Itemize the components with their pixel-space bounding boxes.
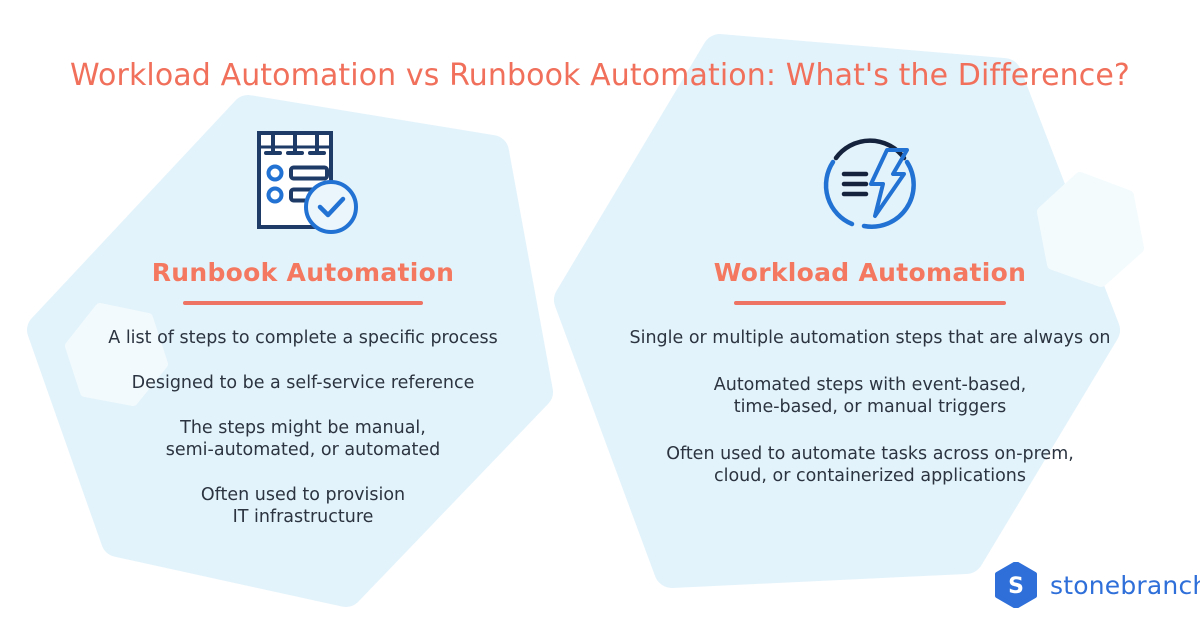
- infographic-canvas: Workload Automation vs Runbook Automatio…: [0, 0, 1200, 628]
- logo-wordmark: stonebranch: [1050, 571, 1200, 600]
- stonebranch-hexagon-s-icon: S: [994, 562, 1038, 608]
- stonebranch-logo: S stonebranch: [994, 562, 1200, 608]
- heading-underline: [734, 301, 1006, 305]
- svg-text:S: S: [1008, 574, 1024, 599]
- list-item: The steps might be manual, semi-automate…: [48, 417, 558, 461]
- heading-underline: [183, 301, 423, 305]
- lightning-bolt-circle-icon: [570, 120, 1170, 240]
- bullet-list: Single or multiple automation steps that…: [570, 327, 1170, 487]
- column-heading: Workload Automation: [570, 258, 1170, 287]
- bullet-list: A list of steps to complete a specific p…: [48, 327, 558, 528]
- list-item: A list of steps to complete a specific p…: [48, 327, 558, 349]
- column-runbook-automation: Runbook Automation A list of steps to co…: [48, 120, 558, 551]
- column-heading: Runbook Automation: [48, 258, 558, 287]
- clipboard-checklist-check-icon: [48, 120, 558, 240]
- list-item: Automated steps with event-based, time-b…: [570, 374, 1170, 418]
- column-workload-automation: Workload Automation Single or multiple a…: [570, 120, 1170, 512]
- page-title: Workload Automation vs Runbook Automatio…: [0, 58, 1200, 93]
- list-item: Often used to automate tasks across on-p…: [570, 443, 1170, 487]
- list-item: Single or multiple automation steps that…: [570, 327, 1170, 349]
- list-item: Designed to be a self-service reference: [48, 372, 558, 394]
- list-item: Often used to provision IT infrastructur…: [48, 484, 558, 528]
